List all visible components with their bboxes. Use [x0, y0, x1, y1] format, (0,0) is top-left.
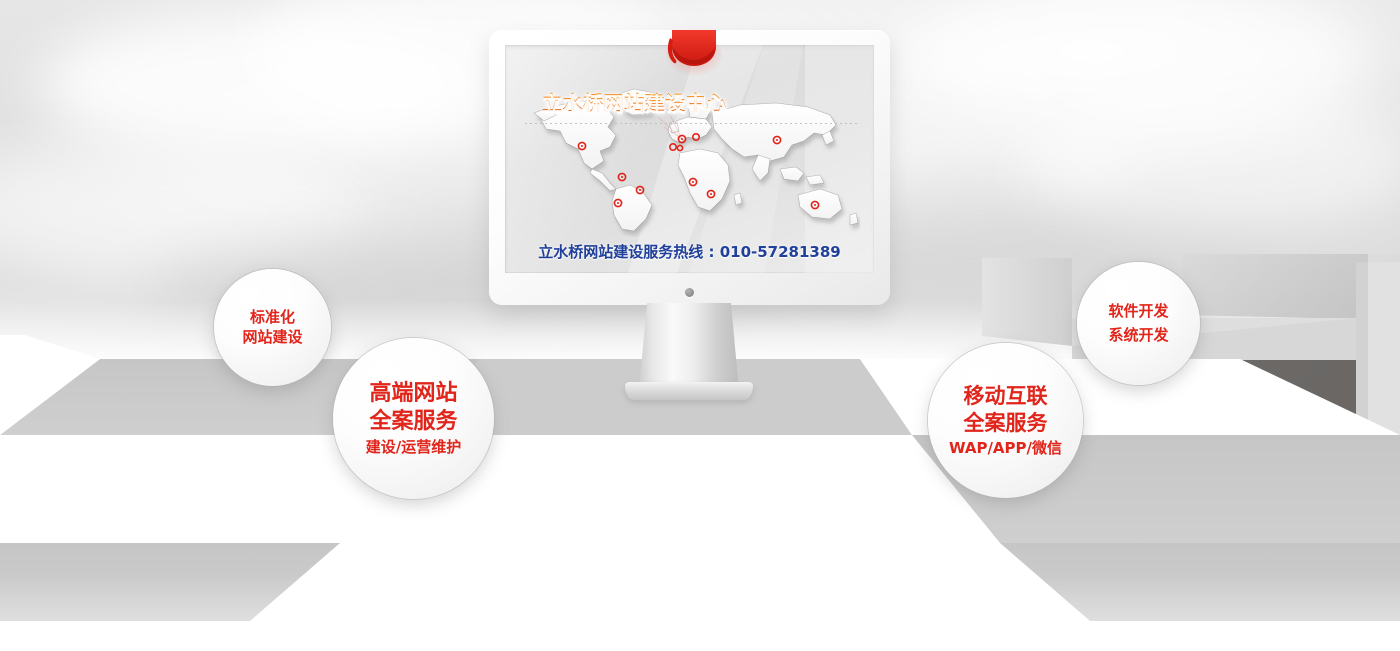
bubble-standard[interactable]: 标准化 网站建设	[214, 269, 331, 386]
bubble-mobile-line2: 全案服务	[964, 410, 1048, 437]
bubble-highend[interactable]: 高端网站 全案服务 建设/运营维护	[333, 338, 494, 499]
bubble-highend-line1: 高端网站	[369, 380, 457, 408]
bubble-mobile[interactable]: 移动互联 全案服务 WAP/APP/微信	[928, 343, 1083, 498]
screen-divider	[525, 123, 860, 124]
hero-banner: 立水桥网站建设中心 立水桥网站建设服务热线 : 010-57281389	[0, 0, 1400, 651]
monitor-stand-base	[625, 382, 753, 400]
monitor-stand-neck	[639, 303, 739, 391]
cloud-shape	[1020, 90, 1400, 230]
bubble-standard-line1: 标准化	[250, 308, 295, 327]
bubble-mobile-line3: WAP/APP/微信	[949, 439, 1062, 458]
bubble-highend-line2: 全案服务	[369, 408, 457, 436]
bubble-highend-line3: 建设/运营维护	[366, 438, 461, 457]
bubble-software-line2: 系统开发	[1108, 324, 1168, 347]
monitor-power-indicator	[685, 288, 694, 297]
red-ribbon-icon	[664, 30, 724, 90]
bubble-mobile-line1: 移动互联	[964, 383, 1048, 410]
bubble-software[interactable]: 软件开发 系统开发	[1077, 262, 1200, 385]
bubble-software-line1: 软件开发	[1108, 300, 1168, 323]
screen-hotline: 立水桥网站建设服务热线 : 010-57281389	[505, 241, 874, 262]
screen-headline: 立水桥网站建设中心	[542, 87, 727, 116]
bubble-standard-line2: 网站建设	[242, 328, 302, 347]
